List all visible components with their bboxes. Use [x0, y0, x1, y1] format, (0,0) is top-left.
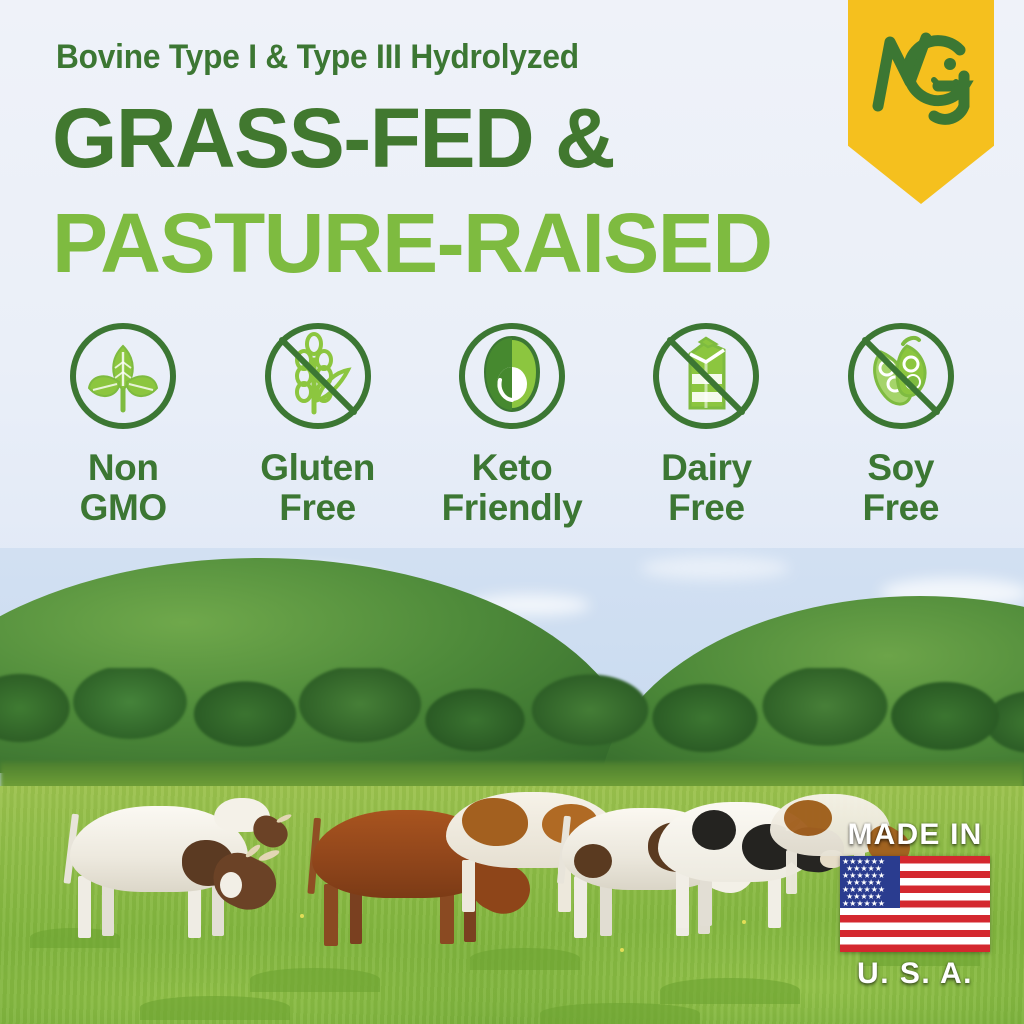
badge-label-line2: Free	[260, 488, 375, 528]
us-flag-icon: ★★★★★★ ★★★★★ ★★★★★★ ★★★★★ ★★★★★★ ★★★★★ ★…	[840, 856, 990, 952]
mg-monogram-icon	[868, 20, 976, 128]
avocado-icon	[456, 320, 568, 432]
cow-calf	[214, 792, 294, 862]
headline-line-1: GRASS-FED &	[52, 100, 614, 177]
badge-label-line1: Gluten	[260, 448, 375, 488]
badge-label-line1: Dairy	[661, 448, 752, 488]
usa-text: U. S. A.	[826, 957, 1004, 991]
badge-label-line1: Non	[80, 448, 167, 488]
grass-tuft	[540, 1003, 700, 1024]
milk-carton-icon	[650, 320, 762, 432]
soybean-icon	[845, 320, 957, 432]
grass-tuft	[660, 978, 800, 1004]
made-in-usa-badge: MADE IN ★★★★★★ ★★★★★ ★★★★★★ ★★★★★ ★★★★★★…	[826, 818, 1004, 991]
headline-line-2: PASTURE-RAISED	[52, 205, 772, 282]
grass-tuft	[250, 968, 380, 992]
leaves-icon	[67, 320, 179, 432]
badge-dairy-free[interactable]: Dairy Free	[617, 320, 795, 528]
badge-label: Soy Free	[862, 448, 939, 528]
badge-label-line2: GMO	[80, 488, 167, 528]
grass-tuft	[140, 996, 290, 1020]
brand-logo-pennant[interactable]	[848, 0, 994, 204]
badge-label-line2: Friendly	[442, 488, 583, 528]
badge-soy-free[interactable]: Soy Free	[812, 320, 990, 528]
made-in-text: MADE IN	[826, 818, 1004, 852]
badge-label: Gluten Free	[260, 448, 375, 528]
badge-label-line1: Soy	[862, 448, 939, 488]
product-kicker: Bovine Type I & Type III Hydrolyzed	[56, 38, 579, 77]
wildflower	[620, 948, 624, 952]
badge-label-line2: Free	[661, 488, 752, 528]
grass-tuft	[470, 948, 580, 970]
product-infographic: Bovine Type I & Type III Hydrolyzed GRAS…	[0, 0, 1024, 1024]
certification-badge-row: Non GMO Gluten Free	[0, 320, 1024, 528]
badge-keto-friendly[interactable]: Keto Friendly	[423, 320, 601, 528]
badge-non-gmo[interactable]: Non GMO	[34, 320, 212, 528]
badge-label-line1: Keto	[442, 448, 583, 488]
flag-canton: ★★★★★★ ★★★★★ ★★★★★★ ★★★★★ ★★★★★★ ★★★★★ ★…	[840, 856, 900, 908]
badge-label: Keto Friendly	[442, 448, 583, 528]
badge-gluten-free[interactable]: Gluten Free	[229, 320, 407, 528]
badge-label: Dairy Free	[661, 448, 752, 528]
badge-label-line2: Free	[862, 488, 939, 528]
cloud	[640, 556, 790, 580]
badge-label: Non GMO	[80, 448, 167, 528]
wheat-icon	[262, 320, 374, 432]
